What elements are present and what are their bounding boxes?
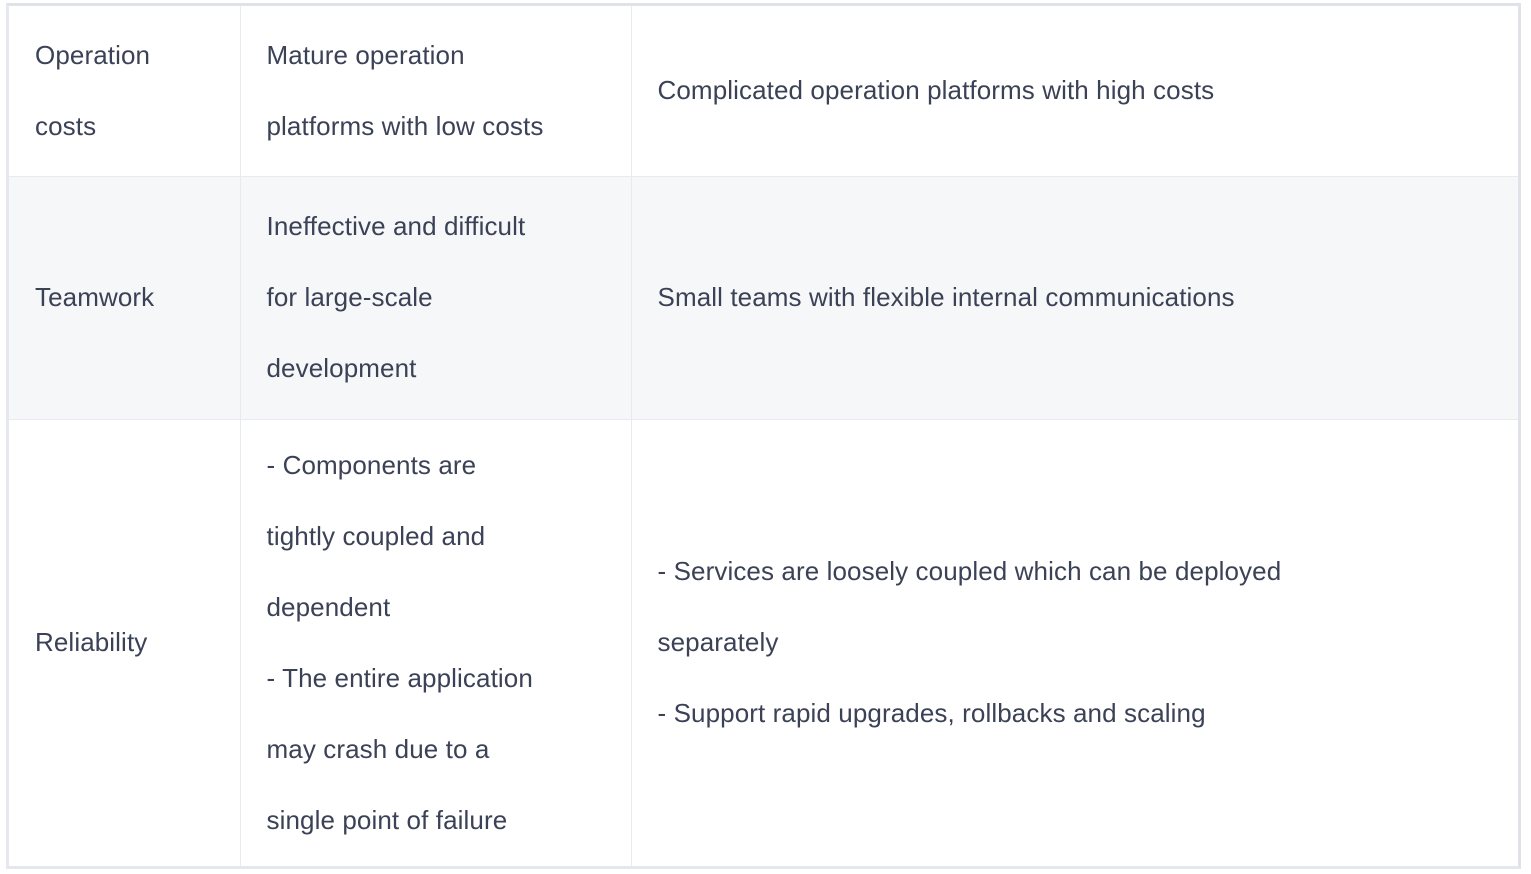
monolith-text-reliability: - Components are tightly coupled and dep… (267, 430, 631, 856)
microservice-text-teamwork: Small teams with flexible internal commu… (658, 262, 1519, 333)
microservice-text-reliability: - Services are loosely coupled which can… (658, 536, 1519, 749)
aspect-text-operation-costs: Operation costs (35, 20, 240, 162)
text-line: tightly coupled and (267, 501, 631, 572)
aspect-text-teamwork: Teamwork (35, 262, 240, 333)
aspect-text-reliability: Reliability (35, 607, 240, 678)
text-line: Reliability (35, 607, 240, 678)
microservice-cell-operation-costs: Complicated operation platforms with hig… (631, 6, 1518, 176)
text-line: Operation (35, 20, 240, 91)
text-line: may crash due to a (267, 714, 631, 785)
aspect-cell-operation-costs: Operation costs (9, 6, 240, 176)
text-line: platforms with low costs (267, 91, 631, 162)
monolith-text-operation-costs: Mature operation platforms with low cost… (267, 20, 631, 162)
text-line: Complicated operation platforms with hig… (658, 55, 1519, 126)
text-line: - The entire application (267, 643, 631, 714)
monolith-cell-reliability: - Components are tightly coupled and dep… (240, 419, 631, 866)
text-line: Mature operation (267, 20, 631, 91)
text-line: Small teams with flexible internal commu… (658, 262, 1519, 333)
text-line: dependent (267, 572, 631, 643)
text-line: separately (658, 607, 1519, 678)
monolith-cell-operation-costs: Mature operation platforms with low cost… (240, 6, 631, 176)
microservice-cell-teamwork: Small teams with flexible internal commu… (631, 176, 1518, 419)
text-line: Teamwork (35, 262, 240, 333)
table-row: Operation costs Mature operation platfor… (9, 6, 1518, 176)
text-line: for large-scale (267, 262, 631, 333)
text-line: - Services are loosely coupled which can… (658, 536, 1519, 607)
microservice-text-operation-costs: Complicated operation platforms with hig… (658, 55, 1519, 126)
text-line: single point of failure (267, 785, 631, 856)
table-row: Reliability - Components are tightly cou… (9, 419, 1518, 866)
text-line: costs (35, 91, 240, 162)
text-line: development (267, 333, 631, 404)
comparison-table: Operation costs Mature operation platfor… (9, 6, 1518, 866)
monolith-text-teamwork: Ineffective and difficult for large-scal… (267, 191, 631, 404)
aspect-cell-teamwork: Teamwork (9, 176, 240, 419)
comparison-table-container: Operation costs Mature operation platfor… (6, 3, 1521, 869)
monolith-cell-teamwork: Ineffective and difficult for large-scal… (240, 176, 631, 419)
table-body: Operation costs Mature operation platfor… (9, 6, 1518, 866)
table-row: Teamwork Ineffective and difficult for l… (9, 176, 1518, 419)
aspect-cell-reliability: Reliability (9, 419, 240, 866)
text-line: - Support rapid upgrades, rollbacks and … (658, 678, 1519, 749)
text-line: - Components are (267, 430, 631, 501)
text-line: Ineffective and difficult (267, 191, 631, 262)
microservice-cell-reliability: - Services are loosely coupled which can… (631, 419, 1518, 866)
